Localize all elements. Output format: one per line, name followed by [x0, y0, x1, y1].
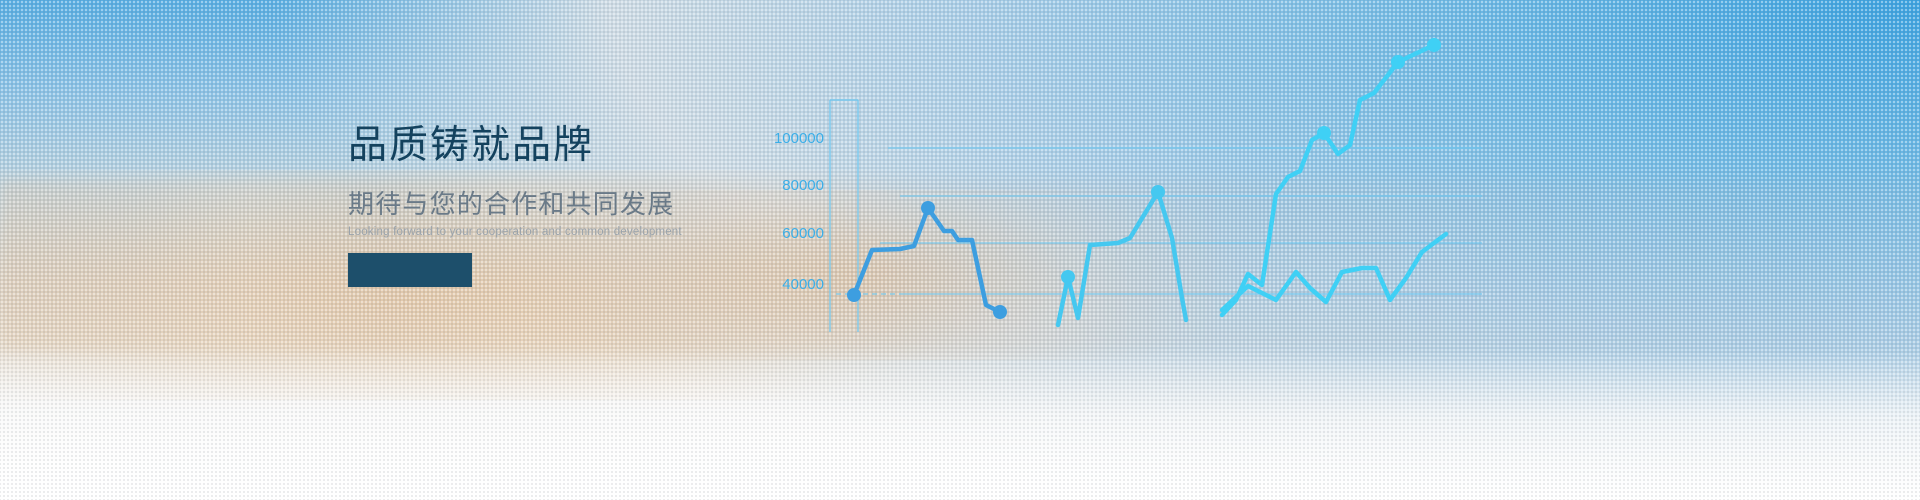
y-tick-label: 60000	[782, 225, 824, 242]
line-chart: 100000 80000 60000 40000	[0, 0, 1920, 500]
hero-subtitle-en: Looking forward to your cooperation and …	[348, 227, 768, 239]
chart-series-1	[847, 201, 1007, 319]
cta-button[interactable]	[348, 253, 472, 287]
hero-banner: 100000 80000 60000 40000	[0, 0, 1920, 500]
page-title: 品质铸就品牌	[348, 126, 768, 165]
chart-series-4	[1222, 234, 1446, 310]
chart-gridlines	[836, 148, 1482, 294]
y-tick-label: 80000	[782, 177, 824, 194]
cta-button-label	[348, 253, 472, 287]
y-tick-label: 40000	[782, 276, 824, 293]
hero-text-block: 品质铸就品牌 期待与您的合作和共同发展 Looking forward to y…	[348, 126, 768, 239]
y-tick-label: 100000	[774, 130, 824, 147]
chart-y-axis-labels: 100000 80000 60000 40000	[774, 130, 824, 293]
chart-series-2	[1058, 185, 1186, 325]
hero-subtitle: 期待与您的合作和共同发展	[348, 191, 768, 217]
